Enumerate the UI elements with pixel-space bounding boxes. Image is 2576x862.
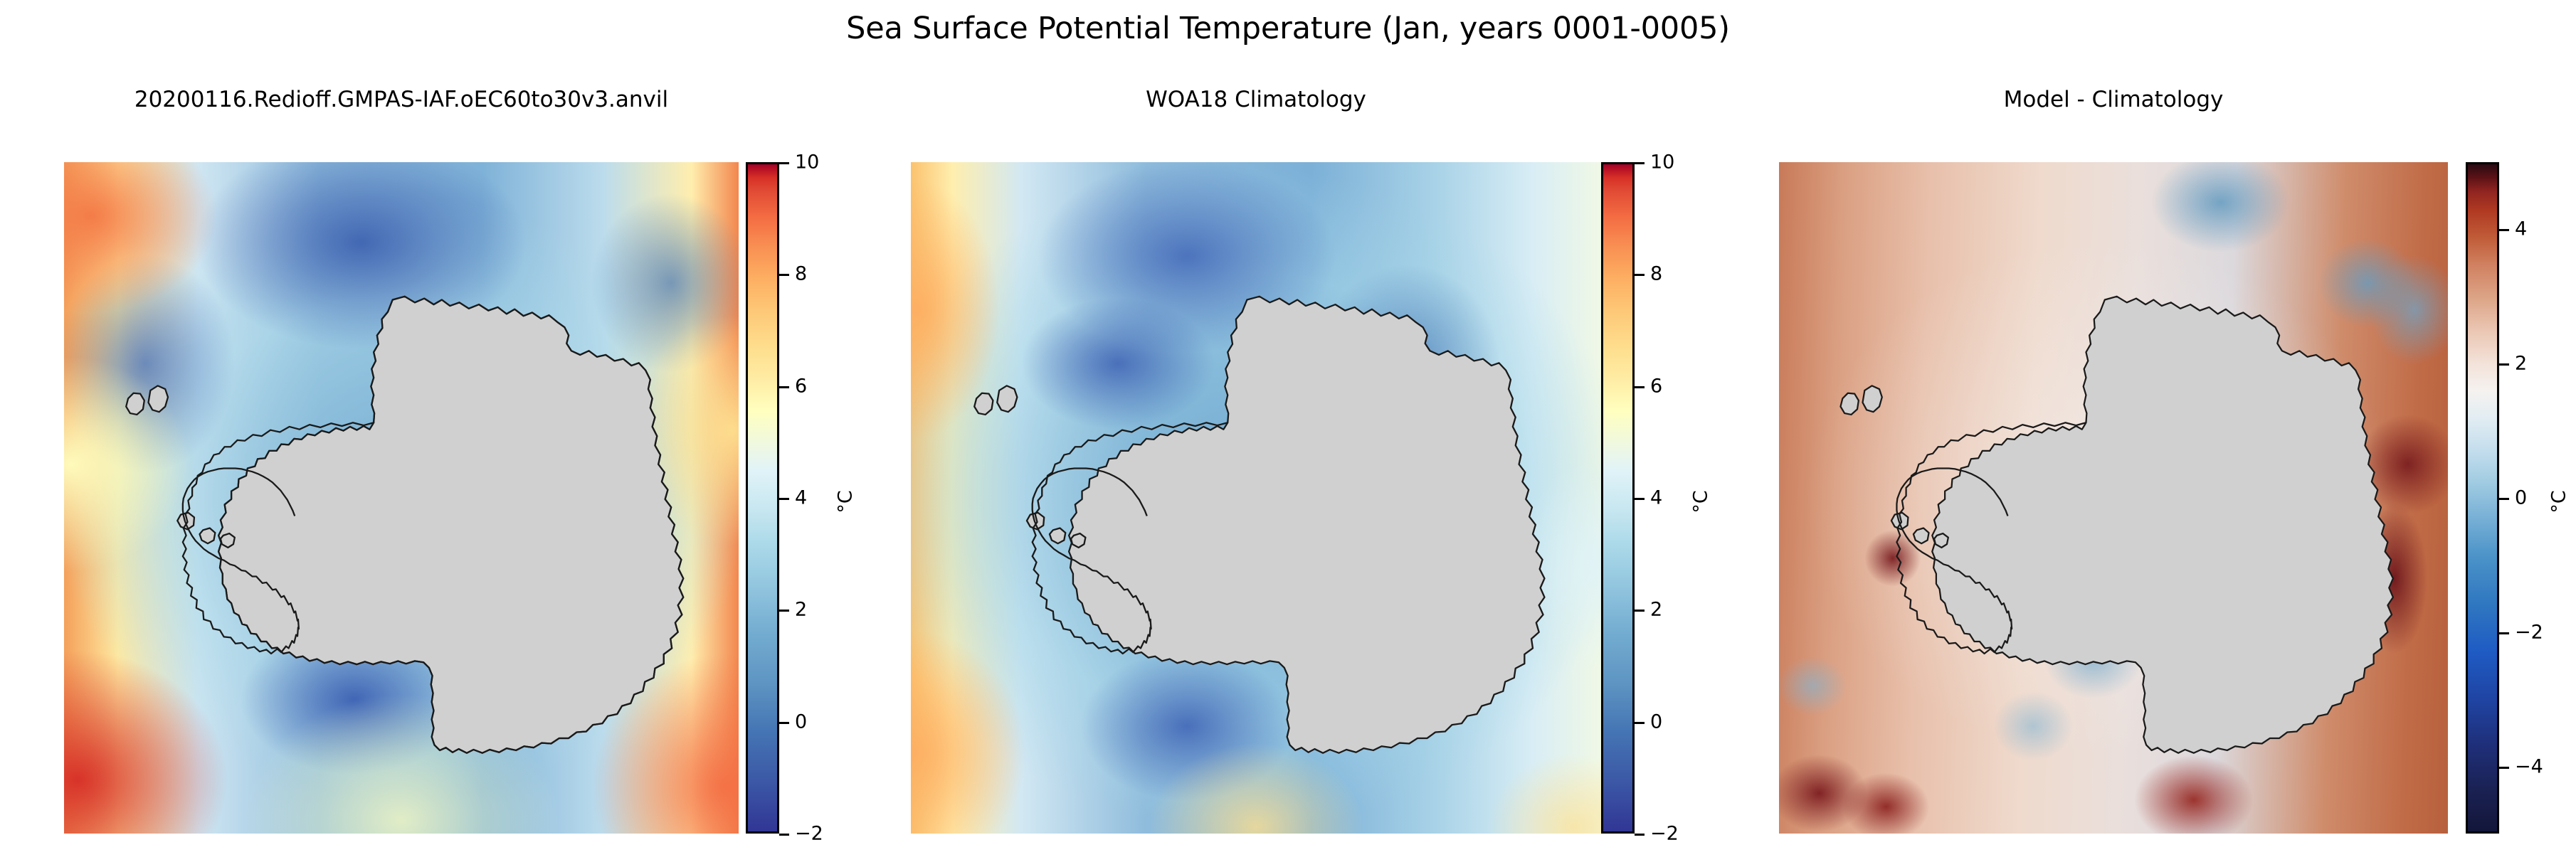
cb-label: 2	[795, 600, 807, 619]
colorbar-unit-climatology: °C	[1690, 490, 1712, 513]
antarctica-coastline-climatology	[911, 162, 1601, 834]
antarctica-coastline-bias	[1779, 162, 2448, 834]
cb-label: 6	[795, 377, 807, 396]
panel-title-bias: Model - Climatology	[1779, 86, 2448, 113]
cb-label: 4	[795, 489, 807, 508]
cb-label: −4	[2515, 757, 2543, 777]
cb-label: −2	[2515, 623, 2543, 642]
cb-label: 10	[1650, 153, 1674, 172]
figure-suptitle: Sea Surface Potential Temperature (Jan, …	[0, 10, 2576, 47]
cb-label: 0	[2515, 489, 2527, 508]
panel-title-climatology: WOA18 Climatology	[911, 86, 1601, 113]
cb-label: 0	[1650, 713, 1662, 732]
cb-label: 8	[795, 265, 807, 284]
colorbar-unit-bias: °C	[2548, 490, 2570, 513]
cb-label: −2	[1650, 824, 1679, 844]
cb-label: 2	[2515, 354, 2527, 373]
panel-title-model: 20200116.Redioff.GMPAS-IAF.oEC60to30v3.a…	[64, 86, 739, 113]
map-panel-model	[64, 162, 739, 834]
colorbar-bias[interactable]	[2466, 162, 2499, 834]
colorbar-model[interactable]	[746, 162, 779, 834]
figure-canvas: Sea Surface Potential Temperature (Jan, …	[0, 0, 2576, 862]
map-panel-climatology	[911, 162, 1601, 834]
cb-label: 8	[1650, 265, 1662, 284]
cb-label: 4	[2515, 220, 2527, 239]
antarctica-coastline-model	[64, 162, 739, 834]
cb-label: 0	[795, 713, 807, 732]
cb-label: −2	[795, 824, 823, 844]
cb-label: 2	[1650, 600, 1662, 619]
colorbar-climatology[interactable]	[1601, 162, 1635, 834]
colorbar-unit-model: °C	[835, 490, 857, 513]
cb-label: 10	[795, 153, 819, 172]
cb-label: 6	[1650, 377, 1662, 396]
cb-label: 4	[1650, 489, 1662, 508]
map-panel-bias	[1779, 162, 2448, 834]
